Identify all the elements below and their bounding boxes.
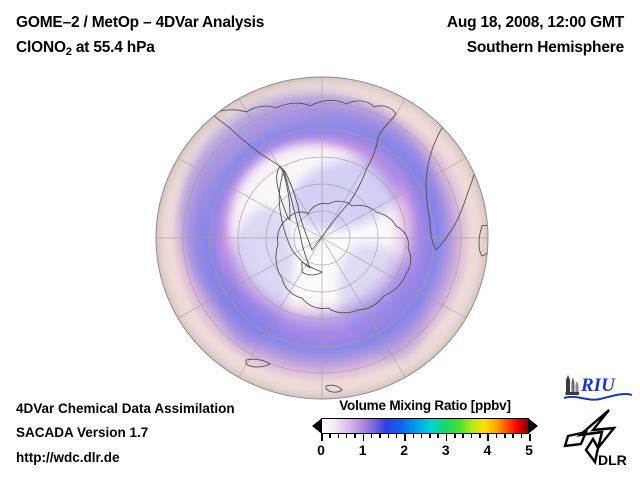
footer-line-3[interactable]: http://wdc.dlr.de	[16, 450, 120, 465]
colorbar-row: 012345	[312, 417, 538, 436]
colorbar-major-tick	[404, 434, 406, 441]
colorbar-major-tick	[487, 434, 489, 441]
footer-line-1: 4DVar Chemical Data Assimilation	[16, 401, 235, 416]
colorbar-major-tick	[321, 434, 323, 441]
colorbar-tick-label: 5	[525, 442, 533, 458]
colorbar-minor-tick	[413, 434, 415, 438]
colorbar-title: Volume Mixing Ratio [ppbv]	[312, 398, 538, 413]
colorbar-major-tick	[363, 434, 365, 441]
colorbar-major-tick	[529, 434, 531, 441]
colorbar-minor-tick	[346, 434, 348, 438]
colorbar: Volume Mixing Ratio [ppbv] 012345	[312, 398, 538, 476]
colorbar-tick-label: 0	[317, 442, 325, 458]
colorbar-minor-tick	[504, 434, 506, 438]
colorbar-minor-tick	[479, 434, 481, 438]
colorbar-minor-tick	[396, 434, 398, 438]
footer-line-2: SACADA Version 1.7	[16, 425, 148, 440]
globe-map	[150, 66, 495, 406]
colorbar-minor-tick	[521, 434, 523, 438]
riu-logo: RIU	[562, 372, 634, 402]
colorbar-minor-tick	[338, 434, 340, 438]
species-pressure: at 55.4 hPa	[72, 39, 155, 56]
colorbar-minor-tick	[329, 434, 331, 438]
colorbar-tick-labels: 012345	[321, 442, 529, 460]
colorbar-major-tick	[446, 434, 448, 441]
colorbar-minor-tick	[388, 434, 390, 438]
colorbar-minor-tick	[462, 434, 464, 438]
colorbar-overflow-arrow-icon	[528, 418, 538, 434]
colorbar-minor-tick	[421, 434, 423, 438]
colorbar-minor-tick	[371, 434, 373, 438]
colorbar-gradient	[321, 418, 529, 434]
globe-disc	[156, 77, 494, 399]
globe-svg	[150, 66, 495, 406]
colorbar-gradient-fill	[322, 419, 528, 433]
colorbar-minor-tick	[437, 434, 439, 438]
colorbar-minor-tick	[429, 434, 431, 438]
colorbar-minor-tick	[379, 434, 381, 438]
header-datetime: Aug 18, 2008, 12:00 GMT	[447, 14, 624, 32]
riu-wordmark: RIU	[580, 375, 616, 396]
colorbar-minor-tick	[496, 434, 498, 438]
riu-spires-icon	[566, 375, 580, 395]
header-region: Southern Hemisphere	[467, 39, 624, 57]
colorbar-minor-tick	[454, 434, 456, 438]
colorbar-tick-label: 2	[400, 442, 408, 458]
title-instrument: GOME–2 / MetOp – 4DVar Analysis	[16, 14, 264, 32]
title-species: ClONO2 at 55.4 hPa	[16, 39, 155, 58]
colorbar-tick-label: 4	[483, 442, 491, 458]
colorbar-ticks	[321, 434, 529, 441]
colorbar-minor-tick	[354, 434, 356, 438]
colorbar-tick-label: 1	[359, 442, 367, 458]
colorbar-minor-tick	[512, 434, 514, 438]
species-formula-pre: ClONO	[16, 39, 66, 56]
dlr-logo: DLR	[562, 406, 634, 468]
colorbar-minor-tick	[471, 434, 473, 438]
dlr-logo-svg: DLR	[562, 406, 634, 468]
colorbar-tick-label: 3	[442, 442, 450, 458]
riu-logo-svg: RIU	[562, 372, 634, 402]
dlr-wordmark: DLR	[598, 452, 627, 468]
